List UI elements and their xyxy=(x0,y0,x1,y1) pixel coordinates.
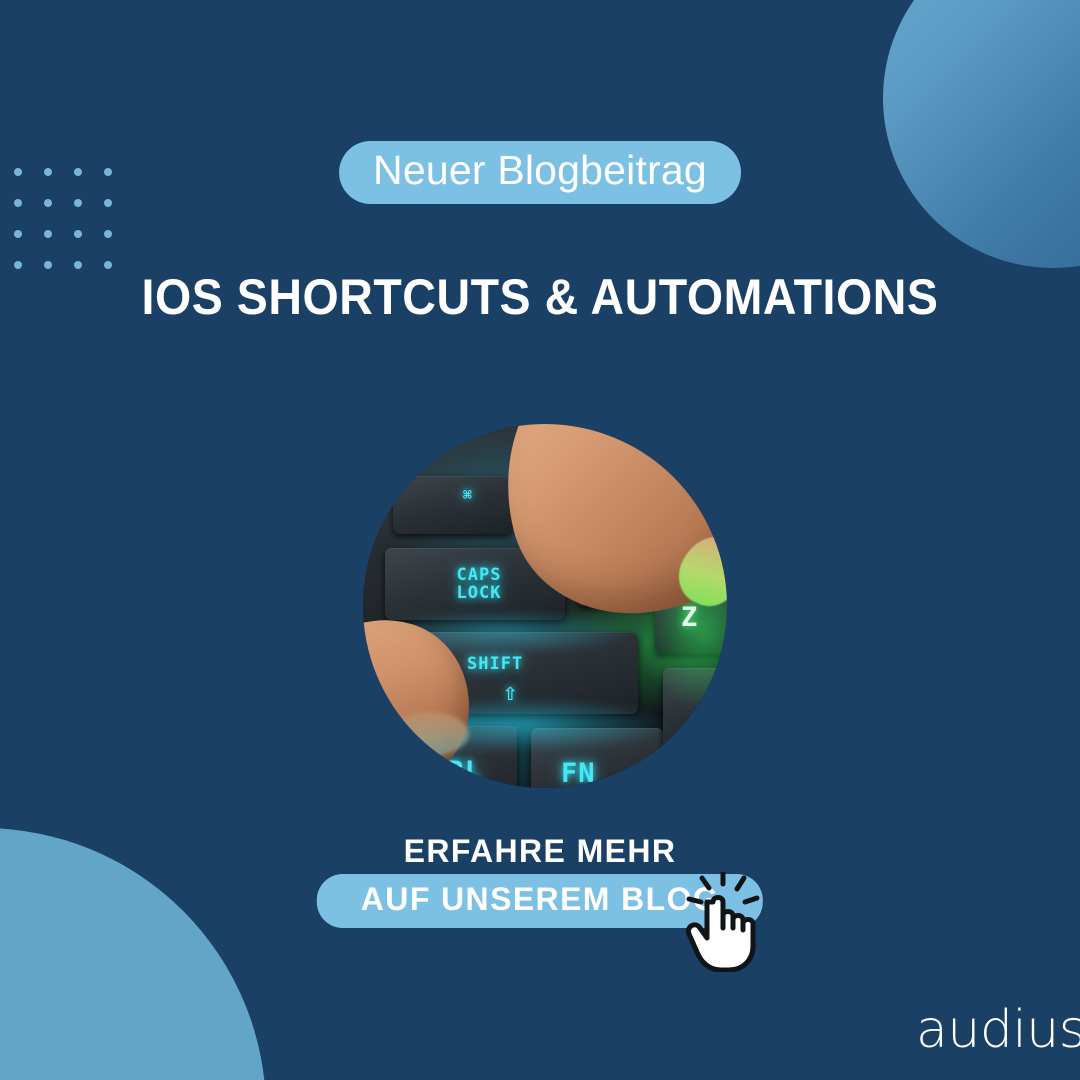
keyboard-photo: ⌘ CAPSLOCK SHIFT ⇧ CTRL FN Z xyxy=(363,424,727,788)
dot xyxy=(104,168,112,176)
cursor-hand-icon xyxy=(683,872,779,972)
dot xyxy=(14,261,22,269)
dot xyxy=(74,168,82,176)
keyboard-photo-circle: ⌘ CAPSLOCK SHIFT ⇧ CTRL FN Z xyxy=(363,424,727,788)
finger-lower-tip xyxy=(391,712,469,756)
dot xyxy=(44,168,52,176)
page-title: IOS SHORTCUTS & AUTOMATIONS xyxy=(38,268,1042,326)
decorative-circle-top-right xyxy=(883,0,1080,268)
dot xyxy=(14,230,22,238)
dot xyxy=(44,199,52,207)
new-blogpost-badge: Neuer Blogbeitrag xyxy=(339,141,741,204)
dot xyxy=(104,199,112,207)
dot xyxy=(74,230,82,238)
dot xyxy=(74,199,82,207)
dot xyxy=(104,230,112,238)
dot xyxy=(14,168,22,176)
dot xyxy=(14,199,22,207)
audius-logo: audius xyxy=(916,1000,1080,1060)
social-post-canvas: Neuer Blogbeitrag IOS SHORTCUTS & AUTOMA… xyxy=(0,0,1080,1080)
dot xyxy=(44,230,52,238)
key-esc xyxy=(393,476,513,534)
cta-headline: ERFAHRE MEHR xyxy=(0,833,1080,870)
